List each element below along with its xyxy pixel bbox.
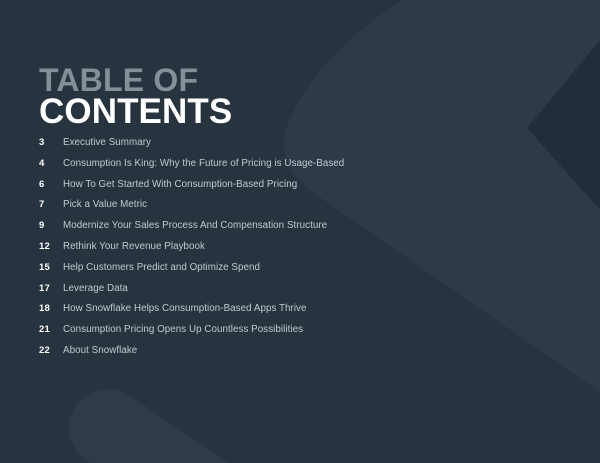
toc-entry-page-number: 21 [39, 324, 63, 335]
toc-entry[interactable]: 3 Executive Summary [39, 137, 459, 158]
toc-entry-page-number: 17 [39, 283, 63, 294]
toc-entry-label[interactable]: Rethink Your Revenue Playbook [63, 241, 205, 252]
toc-page: TABLE OF CONTENTS 3 Executive Summary 4 … [0, 0, 600, 463]
toc-entry[interactable]: 18 How Snowflake Helps Consumption-Based… [39, 303, 459, 324]
toc-entry[interactable]: 22 About Snowflake [39, 345, 459, 366]
toc-entry-page-number: 6 [39, 179, 63, 190]
toc-entry-label[interactable]: Pick a Value Metric [63, 199, 147, 210]
toc-entry-label[interactable]: Modernize Your Sales Process And Compens… [63, 220, 327, 231]
toc-entry-page-number: 18 [39, 303, 63, 314]
toc-entry-label[interactable]: Executive Summary [63, 137, 151, 148]
toc-entry-page-number: 3 [39, 137, 63, 148]
toc-entry-label[interactable]: Consumption Pricing Opens Up Countless P… [63, 324, 303, 335]
toc-entry-page-number: 22 [39, 345, 63, 356]
toc-entry[interactable]: 7 Pick a Value Metric [39, 199, 459, 220]
toc-entry-page-number: 7 [39, 199, 63, 210]
toc-entry-label[interactable]: How To Get Started With Consumption-Base… [63, 179, 297, 190]
toc-entry[interactable]: 12 Rethink Your Revenue Playbook [39, 241, 459, 262]
toc-entry[interactable]: 9 Modernize Your Sales Process And Compe… [39, 220, 459, 241]
toc-entry-page-number: 12 [39, 241, 63, 252]
toc-entry-label[interactable]: Help Customers Predict and Optimize Spen… [63, 262, 260, 273]
toc-entry-page-number: 15 [39, 262, 63, 273]
toc-entry-label[interactable]: Leverage Data [63, 283, 128, 294]
toc-entry[interactable]: 6 How To Get Started With Consumption-Ba… [39, 179, 459, 200]
toc-entry-label[interactable]: About Snowflake [63, 345, 137, 356]
toc-entry[interactable]: 21 Consumption Pricing Opens Up Countles… [39, 324, 459, 345]
page-title: TABLE OF CONTENTS [39, 66, 232, 128]
toc-entry[interactable]: 4 Consumption Is King: Why the Future of… [39, 158, 459, 179]
toc-entry-label[interactable]: How Snowflake Helps Consumption-Based Ap… [63, 303, 307, 314]
toc-entry-label[interactable]: Consumption Is King: Why the Future of P… [63, 158, 344, 169]
toc-entry-list: 3 Executive Summary 4 Consumption Is Kin… [39, 137, 459, 366]
toc-entry[interactable]: 15 Help Customers Predict and Optimize S… [39, 262, 459, 283]
page-content: TABLE OF CONTENTS 3 Executive Summary 4 … [0, 0, 600, 463]
toc-entry-page-number: 4 [39, 158, 63, 169]
toc-entry[interactable]: 17 Leverage Data [39, 283, 459, 304]
toc-entry-page-number: 9 [39, 220, 63, 231]
page-title-line-2: CONTENTS [39, 96, 232, 129]
